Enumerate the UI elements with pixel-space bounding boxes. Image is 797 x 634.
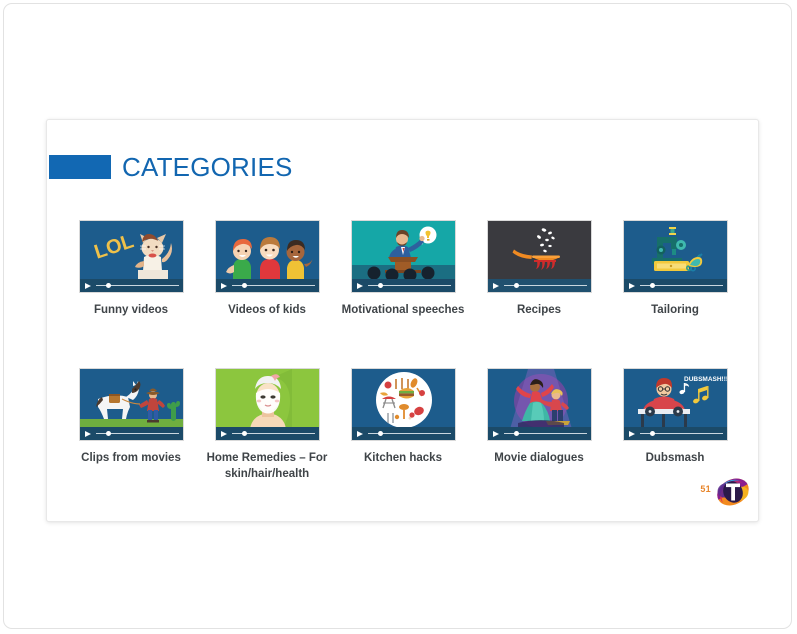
- dj-at-turntable-with-music-notes-art: DUBSMASH!!!: [624, 369, 728, 429]
- video-thumbnail[interactable]: [351, 220, 456, 293]
- video-progress-bar[interactable]: [488, 427, 592, 440]
- category-label: Recipes: [473, 302, 605, 318]
- progress-knob[interactable]: [106, 283, 111, 288]
- progress-knob[interactable]: [106, 431, 111, 436]
- frying-pan-on-flame-art: [488, 221, 592, 281]
- progress-track[interactable]: [232, 433, 315, 435]
- category-label: Kitchen hacks: [337, 450, 469, 466]
- category-tile-kitchen-hacks[interactable]: Kitchen hacks: [335, 368, 471, 483]
- woman-with-face-mask-art: [216, 369, 320, 429]
- category-tile-videos-of-kids[interactable]: Videos of kids: [199, 220, 335, 318]
- category-label: Clips from movies: [65, 450, 197, 466]
- slide-card: CATEGORIES LOL: [46, 119, 759, 522]
- video-progress-bar[interactable]: [488, 279, 592, 292]
- category-label: Motivational speeches: [337, 302, 469, 318]
- play-triangle-icon[interactable]: [221, 283, 227, 289]
- cowboy-with-horse-and-cactus-art: [80, 369, 184, 429]
- category-tile-movie-dialogues[interactable]: Movie dialogues: [471, 368, 607, 483]
- category-tile-funny-videos[interactable]: LOL: [63, 220, 199, 318]
- category-label: Dubsmash: [609, 450, 741, 466]
- video-progress-bar[interactable]: [352, 279, 456, 292]
- play-triangle-icon[interactable]: [357, 283, 363, 289]
- cat-with-lol-text-art: LOL: [80, 221, 184, 281]
- progress-track[interactable]: [368, 433, 451, 435]
- progress-track[interactable]: [96, 433, 179, 435]
- progress-track[interactable]: [232, 285, 315, 287]
- three-happy-kids-art: [216, 221, 320, 281]
- video-progress-bar[interactable]: [624, 279, 728, 292]
- category-label: Videos of kids: [201, 302, 333, 318]
- play-triangle-icon[interactable]: [85, 283, 91, 289]
- speaker-at-podium-with-idea-bulb-art: [352, 221, 456, 281]
- category-tile-tailoring[interactable]: Tailoring: [607, 220, 743, 318]
- progress-knob[interactable]: [650, 283, 655, 288]
- two-dancers-under-purple-spotlight-art: [488, 369, 592, 429]
- progress-knob[interactable]: [514, 283, 519, 288]
- category-tile-dubsmash[interactable]: DUBSMASH!!!: [607, 368, 743, 483]
- video-thumbnail[interactable]: DUBSMASH!!!: [623, 368, 728, 441]
- sewing-machine-and-thread-art: [624, 221, 728, 281]
- video-thumbnail[interactable]: LOL: [79, 220, 184, 293]
- category-label: Funny videos: [65, 302, 197, 318]
- progress-track[interactable]: [640, 433, 723, 435]
- play-triangle-icon[interactable]: [85, 431, 91, 437]
- category-label: Tailoring: [609, 302, 741, 318]
- category-row-1: LOL: [63, 220, 745, 318]
- video-progress-bar[interactable]: [80, 279, 184, 292]
- category-label: Home Remedies – For skin/hair/health: [201, 450, 333, 483]
- slide-viewer-frame: CATEGORIES LOL: [3, 3, 792, 629]
- progress-knob[interactable]: [242, 431, 247, 436]
- video-thumbnail[interactable]: [623, 220, 728, 293]
- svg-text:DUBSMASH!!!: DUBSMASH!!!: [684, 376, 728, 383]
- play-triangle-icon[interactable]: [629, 431, 635, 437]
- progress-track[interactable]: [504, 285, 587, 287]
- play-triangle-icon[interactable]: [493, 283, 499, 289]
- video-thumbnail[interactable]: [487, 220, 592, 293]
- play-triangle-icon[interactable]: [357, 431, 363, 437]
- progress-knob[interactable]: [514, 431, 519, 436]
- page-title: CATEGORIES: [122, 154, 293, 180]
- category-tile-motivational-speeches[interactable]: Motivational speeches: [335, 220, 471, 318]
- video-progress-bar[interactable]: [80, 427, 184, 440]
- category-tile-recipes[interactable]: Recipes: [471, 220, 607, 318]
- category-tile-home-remedies[interactable]: Home Remedies – For skin/hair/health: [199, 368, 335, 483]
- progress-knob[interactable]: [650, 431, 655, 436]
- video-thumbnail[interactable]: [215, 220, 320, 293]
- progress-track[interactable]: [368, 285, 451, 287]
- progress-knob[interactable]: [242, 283, 247, 288]
- category-label: Movie dialogues: [473, 450, 605, 466]
- video-progress-bar[interactable]: [216, 279, 320, 292]
- video-progress-bar[interactable]: [624, 427, 728, 440]
- slide-title-block: CATEGORIES: [49, 154, 293, 180]
- telstra-t-logo-icon: [715, 475, 751, 509]
- video-thumbnail[interactable]: [487, 368, 592, 441]
- progress-track[interactable]: [96, 285, 179, 287]
- category-tile-clips-from-movies[interactable]: Clips from movies: [63, 368, 199, 483]
- video-progress-bar[interactable]: [352, 427, 456, 440]
- video-thumbnail[interactable]: [215, 368, 320, 441]
- progress-knob[interactable]: [378, 431, 383, 436]
- play-triangle-icon[interactable]: [629, 283, 635, 289]
- category-row-2: Clips from movies: [63, 368, 745, 483]
- play-triangle-icon[interactable]: [221, 431, 227, 437]
- video-progress-bar[interactable]: [216, 427, 320, 440]
- title-accent-bar: [49, 155, 111, 179]
- video-thumbnail[interactable]: [79, 368, 184, 441]
- progress-track[interactable]: [504, 433, 587, 435]
- video-thumbnail[interactable]: [351, 368, 456, 441]
- progress-track[interactable]: [640, 285, 723, 287]
- play-triangle-icon[interactable]: [493, 431, 499, 437]
- progress-knob[interactable]: [378, 283, 383, 288]
- page-number: 51: [700, 484, 711, 494]
- circle-of-kitchen-utensils-and-food-art: [352, 369, 456, 429]
